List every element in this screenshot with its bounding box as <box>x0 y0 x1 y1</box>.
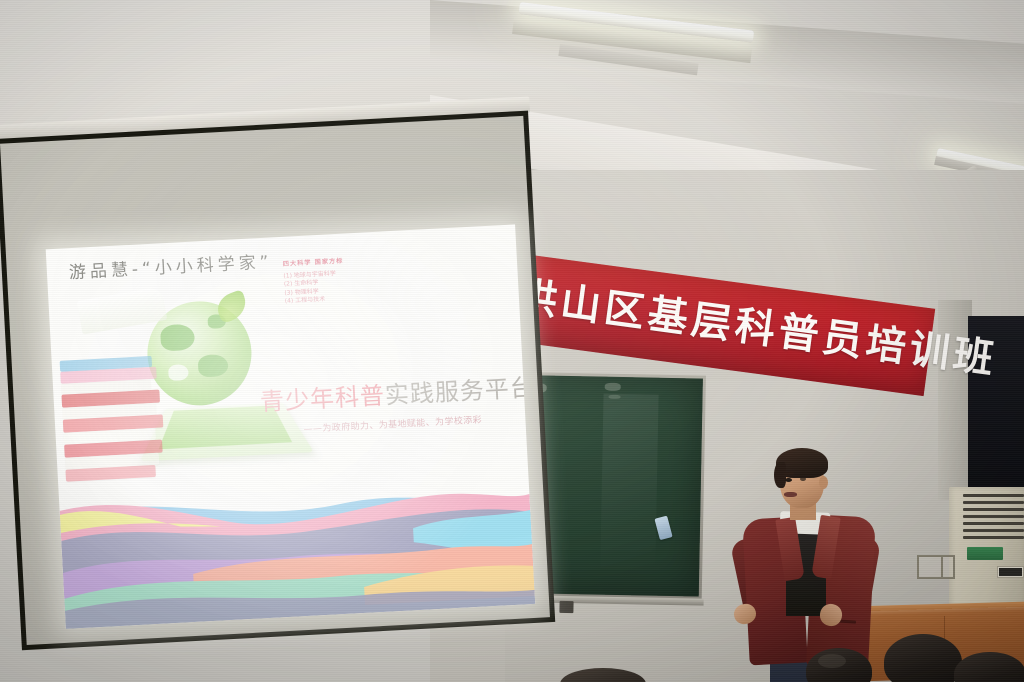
ac-vent <box>963 494 1024 540</box>
presenter <box>724 446 890 682</box>
slide-handwritten-title: 游品慧-“小小科学家” <box>68 247 273 283</box>
projected-slide: 游品慧-“小小科学家” 四大科学 国家方标 (1) 地球与宇宙科学 (2) 生命… <box>46 224 536 628</box>
screen-surface: 游品慧-“小小科学家” 四大科学 国家方标 (1) 地球与宇宙科学 (2) 生命… <box>0 116 550 645</box>
chalk-mark-3 <box>609 395 621 399</box>
chalkboard-sheen <box>600 394 659 569</box>
slide-wave-graphic <box>58 464 535 629</box>
chalk-mark-2 <box>605 383 621 391</box>
ac-display-screen <box>999 568 1022 576</box>
wall-outlet-divider <box>941 555 943 579</box>
audience-head <box>884 634 962 682</box>
slide-main-title: 青少年科普实践服务平台 <box>259 368 535 418</box>
slide-main-title-rest: 实践服务平台 <box>384 374 535 410</box>
ac-green-label <box>967 547 1003 560</box>
slide-bullet-list: 四大科学 国家方标 (1) 地球与宇宙科学 (2) 生命科学 (3) 物理科学 … <box>283 253 435 307</box>
chalk-tray-clip <box>559 601 573 613</box>
presenter-mouth <box>784 492 797 497</box>
presenter-eye <box>785 478 792 482</box>
projector-screen: 游品慧-“小小科学家” 四大科学 国家方标 (1) 地球与宇宙科学 (2) 生命… <box>0 96 562 672</box>
classroom-scene: 洪山区基层科普员培训班 <box>0 0 1024 682</box>
audience-head-highlight <box>818 654 846 668</box>
wall-outlet-box <box>917 555 955 579</box>
presenter-eye-far <box>800 477 806 481</box>
book-stack-graphic <box>60 355 171 496</box>
slide-main-title-accent: 青少年科普 <box>259 382 385 417</box>
slide-subtitle: ——为政府助力、为基地赋能、为学校添彩 <box>303 412 482 434</box>
presenter-ear <box>819 476 828 489</box>
